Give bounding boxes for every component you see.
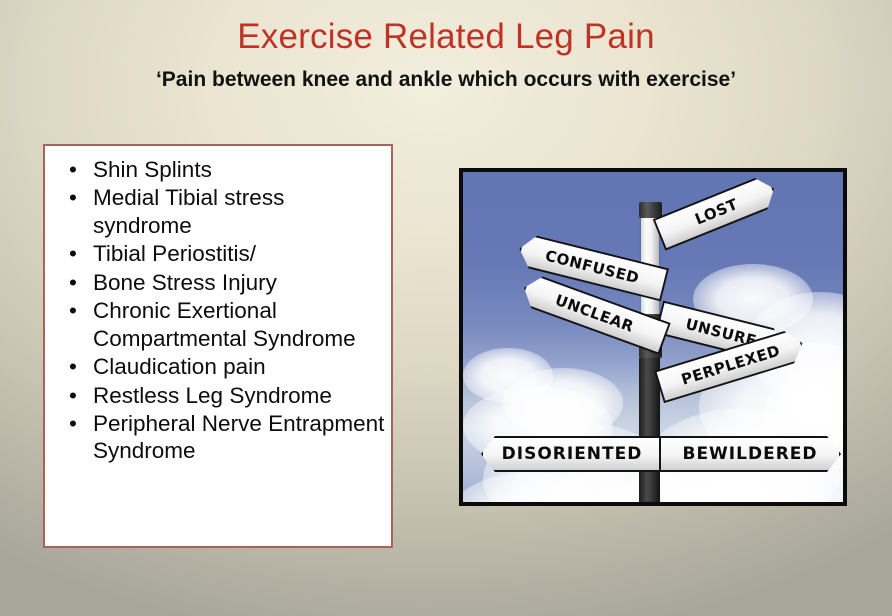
signpost-sign-bewildered: BEWILDERED: [659, 436, 841, 472]
bullet-icon: •: [69, 410, 77, 437]
bullet-icon: •: [69, 353, 77, 380]
list-item: • Peripheral Nerve Entrapment Syndrome: [53, 410, 385, 465]
list-item: • Chronic Exertional Compartmental Syndr…: [53, 297, 385, 352]
page-title: Exercise Related Leg Pain: [0, 18, 892, 57]
cloud-shape: [463, 348, 553, 403]
signpost-photo-frame: LOST CONFUSED UNSURE UNCLEAR PERPLEXED D…: [459, 168, 847, 506]
bullet-icon: •: [69, 382, 77, 409]
page-subtitle: ‘Pain between knee and ankle which occur…: [0, 68, 892, 92]
list-item: • Medial Tibial stress syndrome: [53, 184, 385, 239]
signpost-sign-disoriented: DISORIENTED: [481, 436, 663, 472]
condition-list: • Shin Splints • Medial Tibial stress sy…: [45, 146, 391, 465]
list-item: • Shin Splints: [53, 156, 385, 183]
list-item-label: Restless Leg Syndrome: [93, 383, 332, 408]
list-item-label: Shin Splints: [93, 157, 212, 182]
list-item-label: Peripheral Nerve Entrapment Syndrome: [93, 411, 384, 463]
list-item: • Bone Stress Injury: [53, 269, 385, 296]
bullet-icon: •: [69, 240, 77, 267]
list-item-label: Chronic Exertional Compartmental Syndrom…: [93, 298, 356, 350]
bullet-icon: •: [69, 156, 77, 183]
bullet-icon: •: [69, 184, 77, 211]
signpost-collar: [639, 202, 662, 218]
list-item-label: Medial Tibial stress syndrome: [93, 185, 284, 237]
signpost-photo: LOST CONFUSED UNSURE UNCLEAR PERPLEXED D…: [463, 172, 843, 502]
list-item: • Restless Leg Syndrome: [53, 382, 385, 409]
cloud-shape: [503, 368, 623, 438]
cloud-shape: [463, 472, 613, 502]
list-item-label: Tibial Periostitis/: [93, 241, 256, 266]
condition-list-box: • Shin Splints • Medial Tibial stress sy…: [43, 144, 393, 548]
list-item: • Tibial Periostitis/: [53, 240, 385, 267]
list-item: • Claudication pain: [53, 353, 385, 380]
slide-canvas: Exercise Related Leg Pain ‘Pain between …: [0, 0, 892, 616]
bullet-icon: •: [69, 269, 77, 296]
list-item-label: Claudication pain: [93, 354, 266, 379]
list-item-label: Bone Stress Injury: [93, 270, 277, 295]
bullet-icon: •: [69, 297, 77, 324]
signpost-sign-lost: LOST: [653, 173, 781, 251]
